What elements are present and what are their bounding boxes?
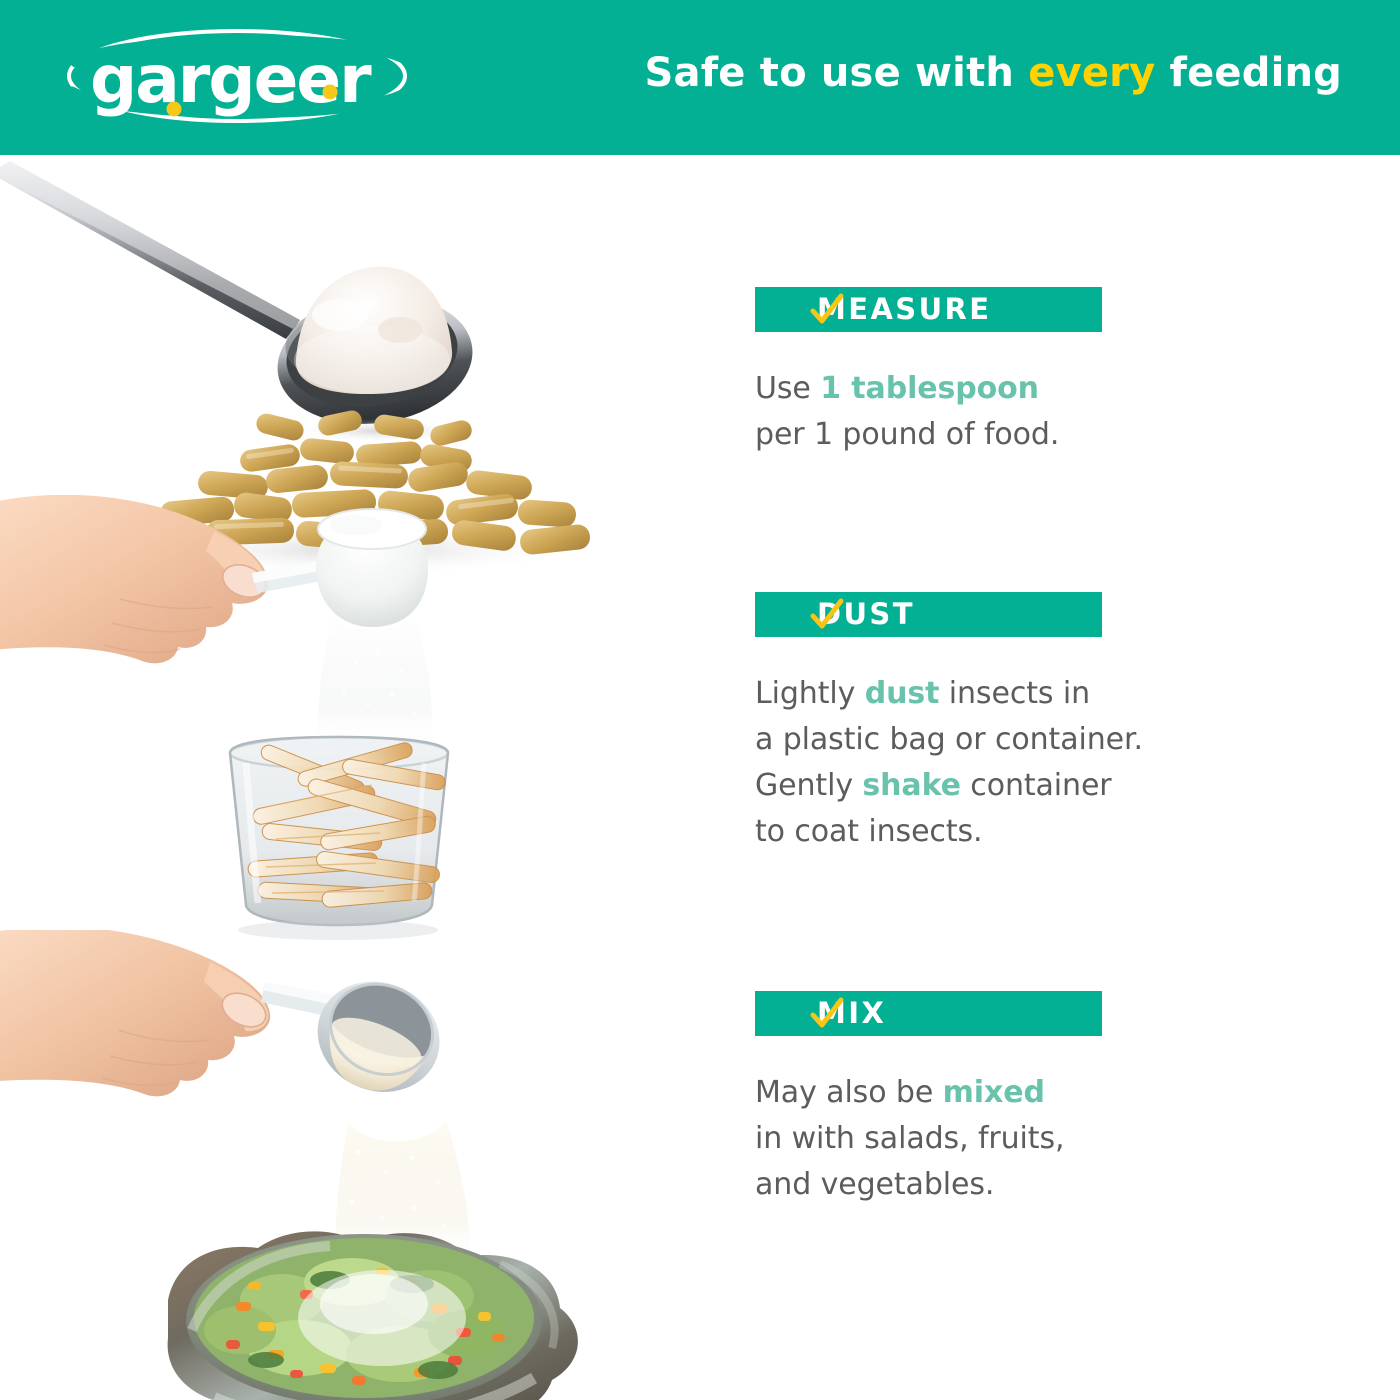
line: per 1 pound of food. (755, 417, 1059, 452)
check-icon (810, 997, 844, 1031)
insect-cup (230, 737, 448, 940)
brand-logo[interactable]: gargeer (62, 26, 412, 126)
highlight: shake (862, 768, 960, 803)
step-body-dust: Lightly dust insects in a plastic bag or… (755, 671, 1375, 855)
illustration-column (0, 155, 755, 1400)
badge-dust[interactable]: DUST (755, 592, 1102, 637)
logo-dot-right (323, 85, 338, 100)
measuring-scoop (252, 509, 428, 627)
line: insects in (939, 676, 1090, 711)
logo-dot-left (167, 102, 182, 117)
line: Gently (755, 768, 862, 803)
step-body-mix: May also be mixed in with salads, fruits… (755, 1070, 1375, 1208)
step-dust: DUST Lightly dust insects in a plastic b… (755, 592, 1375, 855)
line: container (961, 768, 1112, 803)
header-headline: Safe to use with every feeding (645, 50, 1343, 96)
line: and vegetables. (755, 1167, 994, 1202)
badge-measure[interactable]: MEASURE (755, 287, 1102, 332)
gargeer-wordmark-logo: gargeer (62, 26, 412, 126)
illustration-mix (0, 930, 755, 1400)
headline-after: feeding (1155, 50, 1342, 96)
salad-bowl (168, 1231, 578, 1400)
headline-accent: every (1028, 50, 1155, 96)
svg-text:gargeer: gargeer (90, 41, 372, 118)
measuring-scoop (242, 939, 457, 1110)
badge-mix[interactable]: MIX (755, 991, 1102, 1036)
line: a plastic bag or container. (755, 722, 1143, 757)
check-icon (810, 598, 844, 632)
hand (0, 495, 270, 663)
steps-column: MEASURE Use 1 tablespoon per 1 pound of … (755, 155, 1375, 1400)
illustration-dust (0, 495, 755, 945)
line: May also be (755, 1075, 943, 1110)
highlight: 1 tablespoon (820, 371, 1039, 406)
check-icon (810, 293, 844, 327)
line: Use (755, 371, 820, 406)
headline-before: Safe to use with (645, 50, 1029, 96)
line: Lightly (755, 676, 865, 711)
highlight: mixed (943, 1075, 1045, 1110)
highlight: dust (865, 676, 940, 711)
step-mix: MIX May also be mixed in with salads, fr… (755, 991, 1375, 1208)
hand (0, 930, 271, 1096)
line: to coat insects. (755, 814, 982, 849)
step-measure: MEASURE Use 1 tablespoon per 1 pound of … (755, 287, 1375, 458)
step-body-measure: Use 1 tablespoon per 1 pound of food. (755, 366, 1375, 458)
page-header: gargeer Safe to use with every feeding (0, 0, 1400, 155)
line: in with salads, fruits, (755, 1121, 1064, 1156)
salad-contents (194, 1238, 534, 1398)
